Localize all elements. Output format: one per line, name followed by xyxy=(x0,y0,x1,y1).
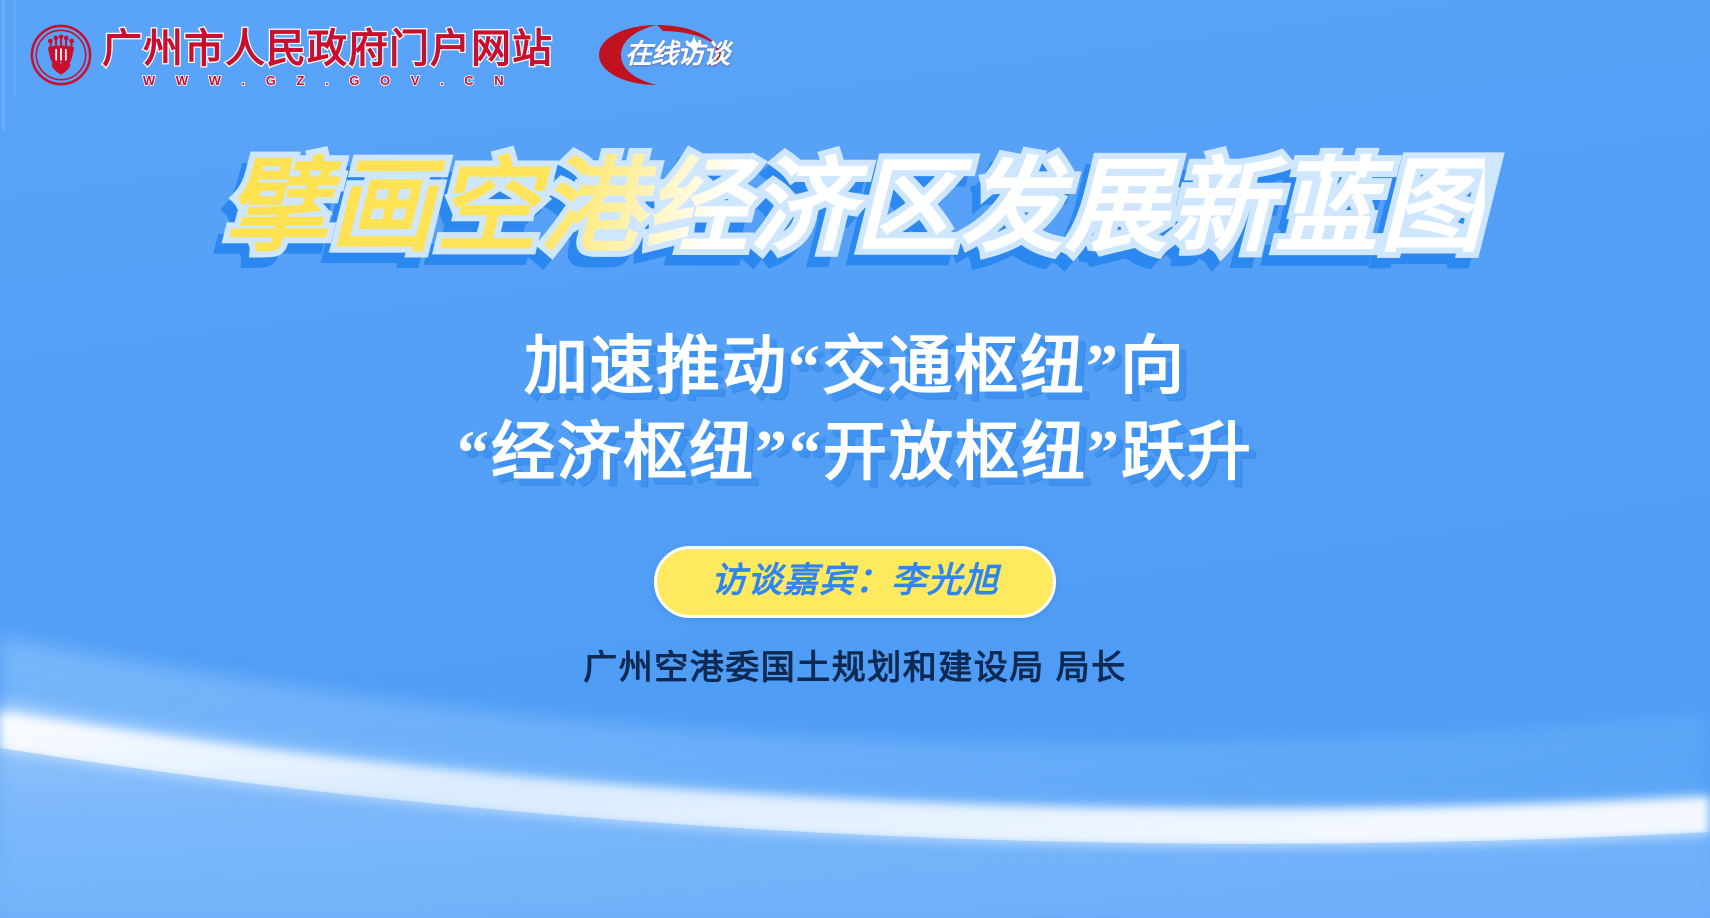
sparkle-star-icon xyxy=(683,34,705,56)
interview-poster-stage: 广州市人民政府门户网站 W W W . G Z . G O V . C N 在线… xyxy=(0,0,1710,918)
main-title: 擘画空港经济区发展新蓝图 擘画空港经济区发展新蓝图 擘画空港经济区发展新蓝图 xyxy=(225,148,1485,266)
gov-portal-url: W W W . G Z . G O V . C N xyxy=(143,73,512,88)
gov-portal-logo[interactable]: 广州市人民政府门户网站 W W W . G Z . G O V . C N xyxy=(30,24,553,86)
guest-badge: 访谈嘉宾：李光旭 xyxy=(654,546,1056,618)
guest-caption: 广州空港委国土规划和建设局 局长 xyxy=(583,645,1126,691)
guest-caption-wrap: 广州空港委国土规划和建设局 局长 xyxy=(0,645,1710,691)
main-title-block: 擘画空港经济区发展新蓝图 擘画空港经济区发展新蓝图 擘画空港经济区发展新蓝图 xyxy=(0,148,1710,266)
gov-portal-title: 广州市人民政府门户网站 xyxy=(102,27,553,71)
guangzhou-kapok-emblem-icon xyxy=(30,24,92,86)
site-header: 广州市人民政府门户网站 W W W . G Z . G O V . C N 在线… xyxy=(30,22,725,88)
online-interview-label: 在线访谈 xyxy=(625,39,729,69)
subtitle-line-1: 加速推动“交通枢纽”向 xyxy=(0,324,1710,410)
gov-portal-text: 广州市人民政府门户网站 W W W . G Z . G O V . C N xyxy=(102,27,553,88)
guest-badge-wrap: 访谈嘉宾：李光旭 xyxy=(0,546,1710,618)
subtitle-block: 加速推动“交通枢纽”向 “经济枢纽”“开放枢纽”跃升 xyxy=(0,324,1710,496)
subtitle-line-2: “经济枢纽”“开放枢纽”跃升 xyxy=(0,410,1710,496)
main-title-fill-layer: 擘画空港经济区发展新蓝图 xyxy=(225,149,1485,264)
online-interview-logo[interactable]: 在线访谈 xyxy=(595,22,725,88)
